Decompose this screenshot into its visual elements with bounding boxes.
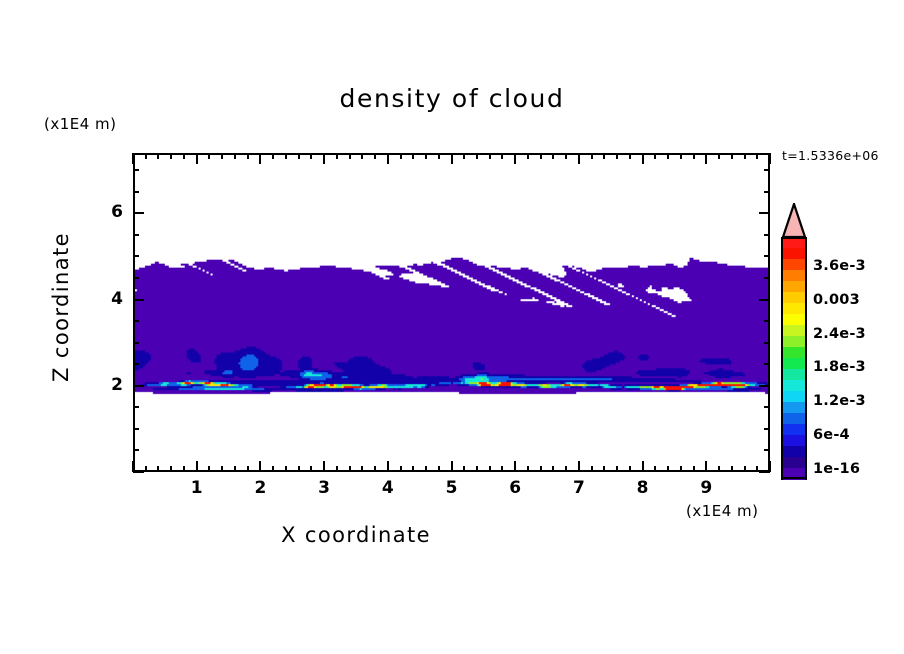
x-tick-top <box>221 153 223 159</box>
x-tick <box>196 461 198 472</box>
colorbar-band <box>781 391 807 403</box>
x-tick <box>323 461 325 472</box>
y-tick-right <box>764 277 770 279</box>
x-tick <box>629 466 631 472</box>
y-tick <box>133 406 139 408</box>
y-tick-label: 2 <box>89 375 123 395</box>
y-tick <box>133 299 144 301</box>
x-tick <box>170 466 172 472</box>
y-tick <box>133 212 144 214</box>
x-tick-top <box>285 153 287 159</box>
colorbar-band <box>781 325 807 337</box>
x-tick-label: 6 <box>495 478 535 498</box>
x-tick-label: 9 <box>686 478 726 498</box>
x-tick-top <box>425 153 427 159</box>
x-tick-top <box>196 153 198 164</box>
x-tick <box>476 466 478 472</box>
x-tick-top <box>387 153 389 164</box>
x-tick-top <box>438 153 440 159</box>
x-tick <box>731 466 733 472</box>
x-tick <box>208 466 210 472</box>
x-tick-top <box>298 153 300 159</box>
colorbar-band <box>781 248 807 260</box>
colorbar-arrow-icon <box>781 203 807 238</box>
x-tick <box>756 466 758 472</box>
colorbar-band <box>781 270 807 282</box>
x-tick <box>336 466 338 472</box>
y-tick-right <box>764 255 770 257</box>
y-tick-right <box>764 342 770 344</box>
x-tick <box>501 466 503 472</box>
x-tick-top <box>616 153 618 159</box>
colorbar-label: 1.2e-3 <box>813 393 866 409</box>
x-tick-top <box>208 153 210 159</box>
x-tick <box>642 461 644 472</box>
x-tick <box>400 466 402 472</box>
x-tick-top <box>374 153 376 159</box>
x-tick-top <box>412 153 414 159</box>
x-tick <box>221 466 223 472</box>
x-tick <box>451 461 453 472</box>
x-tick <box>412 466 414 472</box>
colorbar-label: 2.4e-3 <box>813 326 866 342</box>
y-tick-right <box>764 428 770 430</box>
x-tick <box>514 461 516 472</box>
y-tick <box>133 191 139 193</box>
x-tick <box>157 466 159 472</box>
x-tick <box>693 466 695 472</box>
x-tick-top <box>642 153 644 164</box>
colorbar-band <box>781 281 807 293</box>
y-tick <box>133 255 139 257</box>
colorbar-band <box>781 457 807 469</box>
x-tick-top <box>578 153 580 164</box>
x-tick-top <box>705 153 707 164</box>
x-tick-label: 7 <box>559 478 599 498</box>
x-tick-top <box>157 153 159 159</box>
x-tick-top <box>323 153 325 164</box>
x-tick <box>565 466 567 472</box>
x-tick-top <box>756 153 758 159</box>
x-tick-top <box>718 153 720 159</box>
colorbar-band <box>781 336 807 348</box>
x-tick-top <box>132 153 134 164</box>
x-tick <box>374 466 376 472</box>
colorbar-band <box>781 303 807 315</box>
y-tick-right <box>764 191 770 193</box>
y-tick <box>133 385 144 387</box>
y-tick <box>133 471 144 473</box>
x-tick-top <box>654 153 656 159</box>
x-tick-top <box>514 153 516 164</box>
y-tick-right <box>764 363 770 365</box>
colorbar-band <box>781 468 807 480</box>
x-tick-label: 3 <box>304 478 344 498</box>
x-tick-top <box>272 153 274 159</box>
x-tick-top <box>501 153 503 159</box>
colorbar-label: 0.003 <box>813 292 860 308</box>
colorbar-band <box>781 446 807 458</box>
x-tick <box>438 466 440 472</box>
colorbar-band <box>781 424 807 436</box>
colorbar-band <box>781 380 807 392</box>
y-tick <box>133 342 139 344</box>
y-tick <box>133 449 139 451</box>
page-title: density of cloud <box>0 84 904 113</box>
x-tick <box>578 461 580 472</box>
y-tick <box>133 277 139 279</box>
y-tick-right <box>764 320 770 322</box>
x-tick-top <box>629 153 631 159</box>
x-tick-top <box>489 153 491 159</box>
timestamp-label: t=1.5336e+06 <box>782 148 879 163</box>
y-tick-right <box>759 212 770 214</box>
x-tick-top <box>680 153 682 159</box>
x-tick-label: 2 <box>240 478 280 498</box>
x-tick <box>285 466 287 472</box>
y-tick <box>133 320 139 322</box>
x-tick-top <box>234 153 236 159</box>
y-tick <box>133 234 139 236</box>
colorbar-band <box>781 292 807 304</box>
plot-area <box>133 153 770 472</box>
x-tick <box>654 466 656 472</box>
colorbar-bands <box>781 237 807 479</box>
x-tick <box>667 466 669 472</box>
figure-canvas: density of cloud (x1E4 m) (x1E4 m) t=1.5… <box>0 0 904 654</box>
x-tick <box>425 466 427 472</box>
y-tick-right <box>759 471 770 473</box>
colorbar-label: 3.6e-3 <box>813 258 866 274</box>
x-tick <box>552 466 554 472</box>
x-tick-label: 8 <box>623 478 663 498</box>
x-tick <box>540 466 542 472</box>
x-tick <box>744 466 746 472</box>
x-tick-label: 5 <box>432 478 472 498</box>
x-tick-top <box>552 153 554 159</box>
colorbar-label: 1.8e-3 <box>813 359 866 375</box>
y-tick <box>133 169 139 171</box>
x-tick <box>680 466 682 472</box>
x-tick-top <box>769 153 771 164</box>
colorbar-band <box>781 435 807 447</box>
x-tick-top <box>145 153 147 159</box>
x-axis-title: X coordinate <box>0 523 712 547</box>
colorbar-label: 6e-4 <box>813 427 850 443</box>
x-tick-top <box>170 153 172 159</box>
x-tick <box>247 466 249 472</box>
x-tick-top <box>693 153 695 159</box>
contour-field <box>135 155 768 470</box>
x-tick-top <box>476 153 478 159</box>
x-tick-top <box>310 153 312 159</box>
colorbar-band <box>781 237 807 249</box>
y-tick-label: 6 <box>89 202 123 222</box>
x-tick <box>310 466 312 472</box>
x-tick <box>349 466 351 472</box>
y-tick <box>133 363 139 365</box>
y-tick-right <box>759 385 770 387</box>
x-tick-top <box>731 153 733 159</box>
colorbar-band <box>781 314 807 326</box>
x-tick <box>272 466 274 472</box>
x-tick <box>705 461 707 472</box>
colorbar-band <box>781 402 807 414</box>
y-tick-label: 4 <box>89 289 123 309</box>
x-tick <box>718 466 720 472</box>
x-tick-top <box>349 153 351 159</box>
colorbar-band <box>781 259 807 271</box>
x-tick <box>387 461 389 472</box>
colorbar-band <box>781 369 807 381</box>
y-tick-right <box>764 449 770 451</box>
y-tick-right <box>764 234 770 236</box>
x-tick <box>298 466 300 472</box>
x-tick-label: 1 <box>177 478 217 498</box>
x-tick-top <box>361 153 363 159</box>
y-tick-right <box>759 299 770 301</box>
x-tick <box>183 466 185 472</box>
x-tick-top <box>247 153 249 159</box>
x-tick-top <box>744 153 746 159</box>
y-tick <box>133 428 139 430</box>
x-tick-top <box>540 153 542 159</box>
x-tick <box>259 461 261 472</box>
colorbar-band <box>781 413 807 425</box>
y-tick-right <box>764 169 770 171</box>
x-tick-top <box>591 153 593 159</box>
colorbar-label: 1e-16 <box>813 461 860 477</box>
x-tick-top <box>565 153 567 159</box>
x-tick <box>145 466 147 472</box>
x-tick <box>463 466 465 472</box>
x-tick <box>616 466 618 472</box>
x-tick-top <box>183 153 185 159</box>
x-tick <box>234 466 236 472</box>
x-tick <box>361 466 363 472</box>
x-tick-label: 4 <box>368 478 408 498</box>
x-tick-top <box>667 153 669 159</box>
colorbar-band <box>781 347 807 359</box>
x-tick-top <box>463 153 465 159</box>
x-tick-top <box>451 153 453 164</box>
x-tick <box>603 466 605 472</box>
x-tick-top <box>603 153 605 159</box>
x-tick-top <box>336 153 338 159</box>
x-tick <box>527 466 529 472</box>
y-axis-title: Z coordinate <box>49 217 73 397</box>
colorbar-band <box>781 358 807 370</box>
x-tick <box>489 466 491 472</box>
y-axis-unit-label: (x1E4 m) <box>44 115 117 133</box>
x-tick <box>591 466 593 472</box>
x-tick-top <box>527 153 529 159</box>
x-tick-top <box>400 153 402 159</box>
x-tick-top <box>259 153 261 164</box>
y-tick-right <box>764 406 770 408</box>
x-axis-unit-label: (x1E4 m) <box>686 502 759 520</box>
